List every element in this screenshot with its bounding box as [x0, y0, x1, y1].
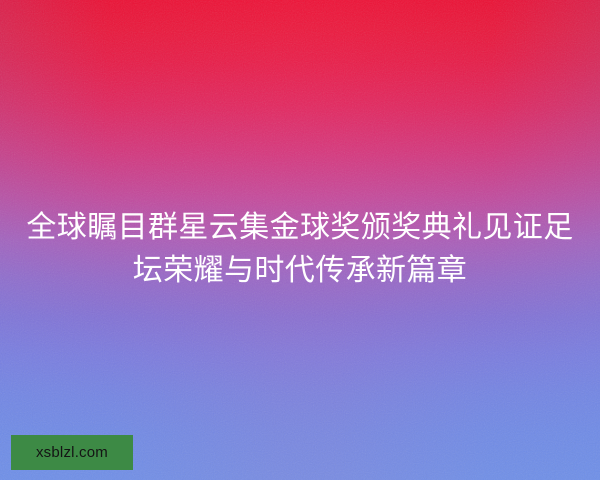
page-title: 全球瞩目群星云集金球奖颁奖典礼见证足坛荣耀与时代传承新篇章	[0, 206, 600, 292]
poster-canvas: 全球瞩目群星云集金球奖颁奖典礼见证足坛荣耀与时代传承新篇章 xsblzl.com	[0, 0, 600, 480]
watermark-label: xsblzl.com	[36, 445, 108, 460]
watermark-badge: xsblzl.com	[11, 435, 133, 470]
